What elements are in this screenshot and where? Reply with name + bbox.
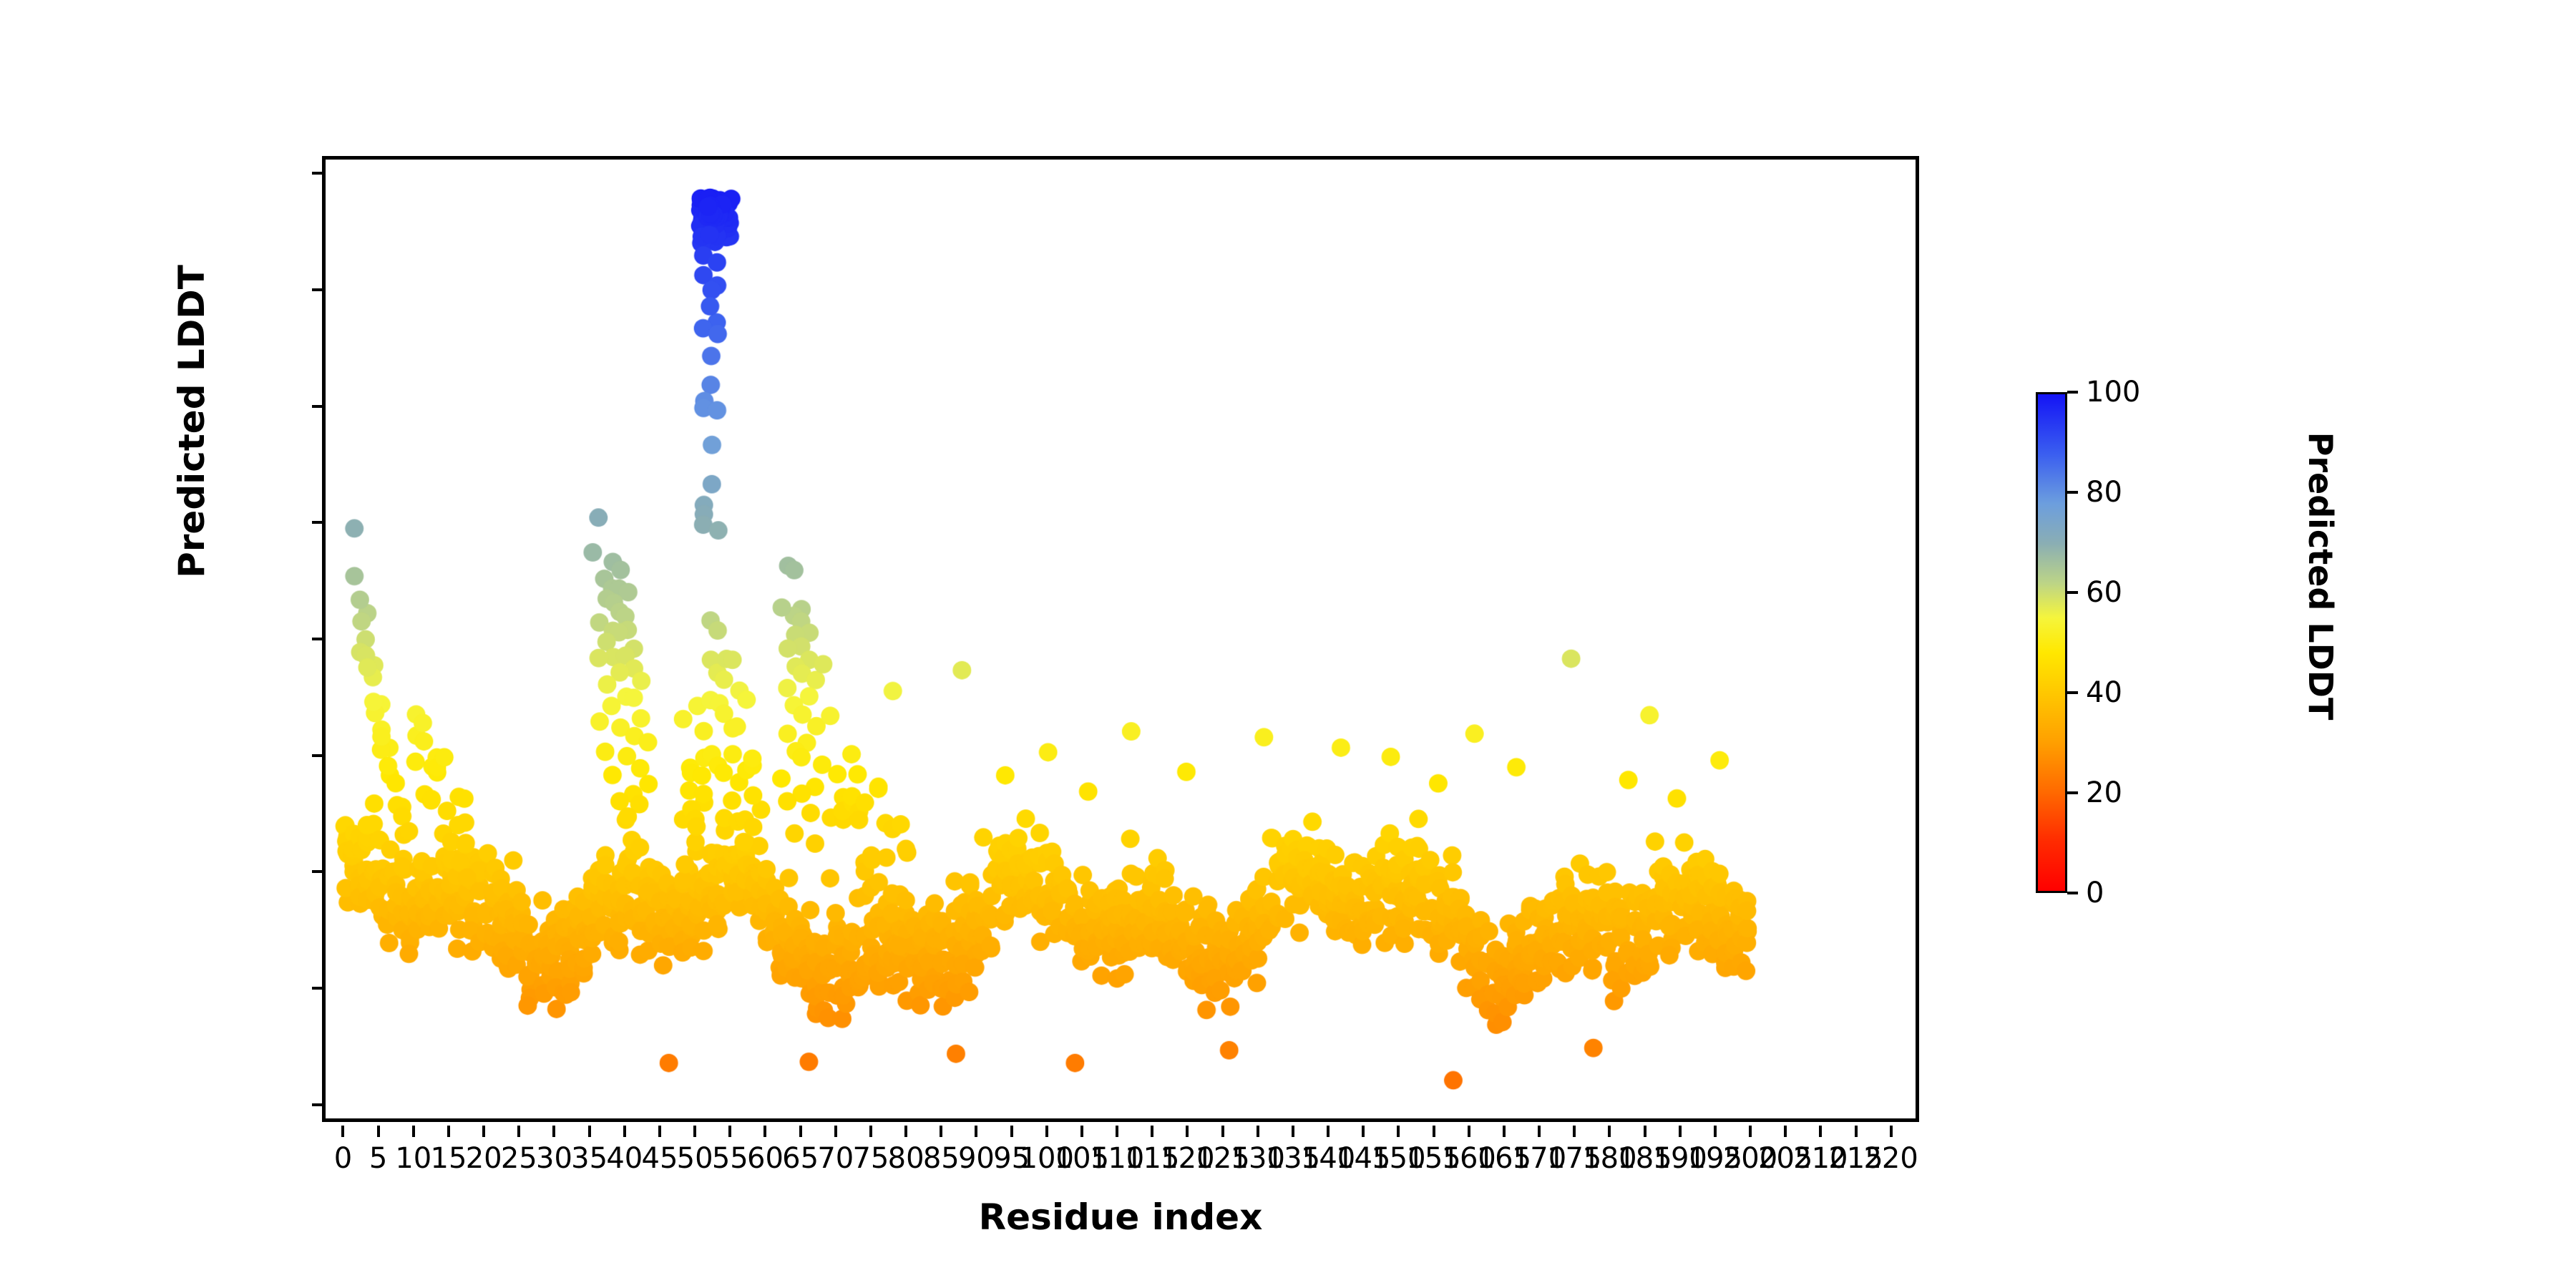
x-tick-mark — [1116, 1126, 1118, 1137]
x-tick-mark — [1080, 1126, 1083, 1137]
y-axis-label: Predicted LDDT — [171, 200, 213, 643]
x-tick-mark — [1433, 1126, 1435, 1137]
x-tick-mark — [1819, 1126, 1822, 1137]
x-tick-mark — [1855, 1126, 1858, 1137]
x-tick-mark — [1679, 1126, 1682, 1137]
plddt-scatter-figure: Predicted LDDT Residue index Predicted L… — [0, 0, 2576, 1288]
x-tick-mark — [1327, 1126, 1330, 1137]
x-tick-label: 60 — [747, 1142, 784, 1175]
x-tick-mark — [1397, 1126, 1400, 1137]
x-tick-mark — [940, 1126, 942, 1137]
x-tick-label: 25 — [501, 1142, 537, 1175]
x-tick-label: 10 — [395, 1142, 431, 1175]
x-tick-label: 35 — [571, 1142, 608, 1175]
y-tick-mark — [312, 1103, 322, 1106]
x-tick-mark — [1468, 1126, 1470, 1137]
x-tick-label: 75 — [852, 1142, 889, 1175]
x-tick-mark — [1045, 1126, 1048, 1137]
x-tick-label: 70 — [817, 1142, 854, 1175]
y-tick-mark — [312, 987, 322, 990]
x-tick-mark — [1221, 1126, 1224, 1137]
x-tick-label: 50 — [677, 1142, 713, 1175]
x-tick-mark — [1503, 1126, 1506, 1137]
scatter-canvas — [326, 160, 1916, 1118]
x-tick-mark — [834, 1126, 837, 1137]
x-tick-mark — [869, 1126, 872, 1137]
x-tick-mark — [693, 1126, 696, 1137]
y-tick-mark — [312, 754, 322, 757]
x-tick-mark — [1186, 1126, 1189, 1137]
x-tick-mark — [482, 1126, 485, 1137]
x-tick-mark — [341, 1126, 344, 1137]
x-tick-mark — [1644, 1126, 1646, 1137]
colorbar-tick-label: 100 — [2086, 376, 2140, 409]
colorbar-tick-mark — [2067, 892, 2078, 894]
x-tick-mark — [1292, 1126, 1294, 1137]
x-tick-mark — [1608, 1126, 1611, 1137]
x-tick-mark — [377, 1126, 380, 1137]
x-tick-label: 65 — [782, 1142, 819, 1175]
colorbar-tick-label: 0 — [2086, 877, 2104, 909]
colorbar-gradient — [2036, 392, 2067, 893]
colorbar-tick-mark — [2067, 691, 2078, 694]
x-tick-mark — [1714, 1126, 1717, 1137]
x-tick-label: 40 — [606, 1142, 643, 1175]
x-tick-label: 85 — [923, 1142, 960, 1175]
colorbar-tick-label: 60 — [2086, 576, 2122, 609]
x-tick-label: 90 — [958, 1142, 995, 1175]
colorbar-tick-mark — [2067, 791, 2078, 794]
x-tick-label: 30 — [536, 1142, 572, 1175]
x-tick-mark — [1010, 1126, 1013, 1137]
x-tick-mark — [588, 1126, 591, 1137]
x-tick-label: 80 — [888, 1142, 924, 1175]
x-tick-mark — [412, 1126, 415, 1137]
x-tick-label: 55 — [712, 1142, 748, 1175]
x-tick-mark — [1573, 1126, 1576, 1137]
x-tick-mark — [799, 1126, 802, 1137]
x-tick-mark — [1257, 1126, 1259, 1137]
plot-area — [322, 156, 1919, 1122]
colorbar-tick-mark — [2067, 391, 2078, 394]
x-tick-mark — [728, 1126, 731, 1137]
x-tick-mark — [1749, 1126, 1752, 1137]
colorbar-tick-label: 80 — [2086, 476, 2122, 509]
colorbar-tick-label: 20 — [2086, 776, 2122, 809]
x-tick-mark — [1890, 1126, 1893, 1137]
x-tick-mark — [447, 1126, 450, 1137]
y-tick-mark — [312, 288, 322, 291]
y-tick-mark — [312, 870, 322, 873]
colorbar: Predicted LDDT 020406080100 — [2036, 392, 2336, 893]
x-tick-label: 45 — [642, 1142, 678, 1175]
y-tick-mark — [312, 521, 322, 524]
colorbar-tick-mark — [2067, 491, 2078, 494]
x-tick-mark — [1151, 1126, 1153, 1137]
x-tick-mark — [517, 1126, 520, 1137]
y-tick-mark — [312, 638, 322, 640]
colorbar-label: Predicted LDDT — [2301, 326, 2340, 826]
x-tick-mark — [552, 1126, 555, 1137]
x-tick-label: 20 — [466, 1142, 502, 1175]
y-tick-mark — [312, 405, 322, 408]
x-tick-label: 220 — [1863, 1142, 1918, 1175]
y-tick-mark — [312, 172, 322, 175]
x-tick-mark — [1362, 1126, 1365, 1137]
x-tick-mark — [623, 1126, 626, 1137]
x-tick-mark — [763, 1126, 766, 1137]
x-tick-mark — [975, 1126, 977, 1137]
colorbar-tick-mark — [2067, 591, 2078, 594]
x-tick-mark — [1784, 1126, 1787, 1137]
x-tick-label: 15 — [431, 1142, 467, 1175]
x-tick-label: 0 — [334, 1142, 352, 1175]
x-tick-mark — [1538, 1126, 1541, 1137]
x-tick-mark — [904, 1126, 907, 1137]
x-tick-mark — [658, 1126, 661, 1137]
x-tick-label: 5 — [369, 1142, 387, 1175]
x-axis-label: Residue index — [322, 1196, 1919, 1238]
colorbar-tick-label: 40 — [2086, 676, 2122, 709]
